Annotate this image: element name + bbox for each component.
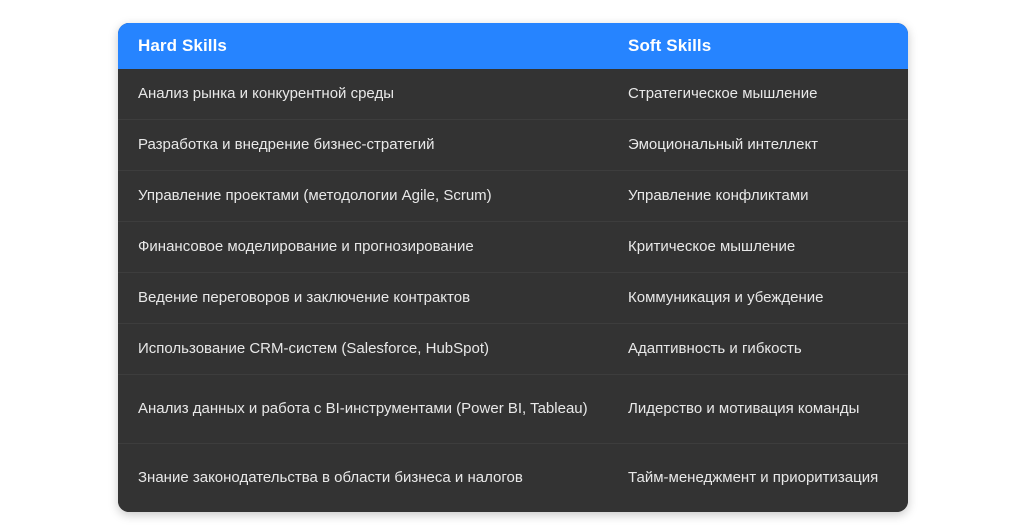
table-row: Знание законодательства в области бизнес… bbox=[118, 443, 908, 512]
table-row: Анализ данных и работа с BI-инструментам… bbox=[118, 374, 908, 443]
table-row: Ведение переговоров и заключение контрак… bbox=[118, 272, 908, 323]
table-header-row: Hard Skills Soft Skills bbox=[118, 23, 908, 69]
cell-soft-skill: Управление конфликтами bbox=[608, 177, 908, 216]
table-row: Использование CRM-систем (Salesforce, Hu… bbox=[118, 323, 908, 374]
skills-comparison-table: Hard Skills Soft Skills Анализ рынка и к… bbox=[118, 23, 908, 512]
cell-soft-skill: Критическое мышление bbox=[608, 228, 908, 267]
cell-hard-skill: Управление проектами (методологии Agile,… bbox=[118, 177, 608, 216]
cell-soft-skill: Стратегическое мышление bbox=[608, 75, 908, 114]
column-header-hard-skills: Hard Skills bbox=[118, 36, 608, 56]
cell-hard-skill: Знание законодательства в области бизнес… bbox=[118, 459, 608, 498]
table-row: Анализ рынка и конкурентной средыСтратег… bbox=[118, 69, 908, 119]
table-row: Разработка и внедрение бизнес-стратегийЭ… bbox=[118, 119, 908, 170]
table-row: Управление проектами (методологии Agile,… bbox=[118, 170, 908, 221]
cell-soft-skill: Коммуникация и убеждение bbox=[608, 279, 908, 318]
cell-hard-skill: Использование CRM-систем (Salesforce, Hu… bbox=[118, 330, 608, 369]
cell-hard-skill: Финансовое моделирование и прогнозирован… bbox=[118, 228, 608, 267]
cell-soft-skill: Эмоциональный интеллект bbox=[608, 126, 908, 165]
cell-soft-skill: Адаптивность и гибкость bbox=[608, 330, 908, 369]
cell-soft-skill: Лидерство и мотивация команды bbox=[608, 390, 908, 429]
table-body: Анализ рынка и конкурентной средыСтратег… bbox=[118, 69, 908, 512]
column-header-soft-skills: Soft Skills bbox=[608, 36, 908, 56]
cell-hard-skill: Анализ данных и работа с BI-инструментам… bbox=[118, 390, 608, 429]
cell-hard-skill: Анализ рынка и конкурентной среды bbox=[118, 75, 608, 114]
table-row: Финансовое моделирование и прогнозирован… bbox=[118, 221, 908, 272]
cell-soft-skill: Тайм-менеджмент и приоритизация bbox=[608, 459, 908, 498]
cell-hard-skill: Ведение переговоров и заключение контрак… bbox=[118, 279, 608, 318]
cell-hard-skill: Разработка и внедрение бизнес-стратегий bbox=[118, 126, 608, 165]
